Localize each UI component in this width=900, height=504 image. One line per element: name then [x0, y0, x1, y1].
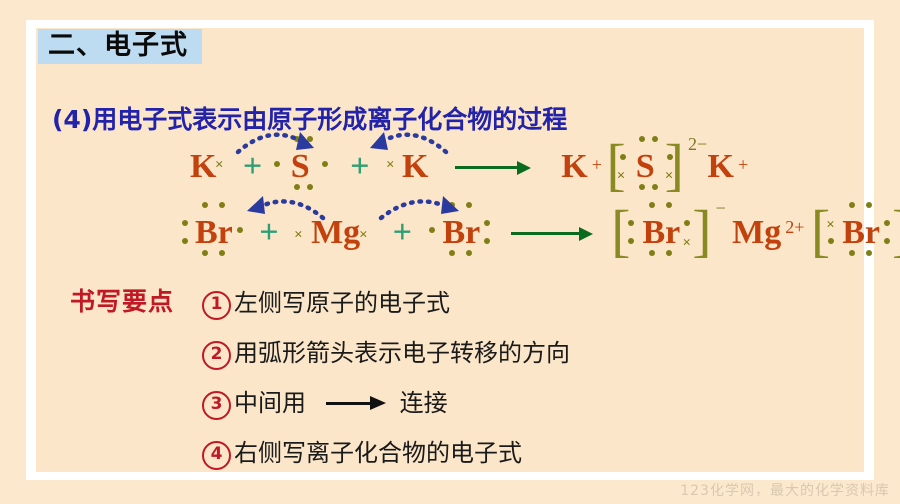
atom-symbol-br: Br — [642, 214, 680, 251]
bracketed-br: Br × — [642, 214, 680, 252]
ion-charge: 2+ — [785, 217, 804, 237]
product-bromide-left: [ Br × ] − — [611, 214, 726, 252]
electron-cross: × — [359, 232, 368, 238]
key-point-text: 左侧写原子的电子式 — [234, 289, 450, 317]
electron-cross: × — [617, 173, 626, 179]
arrow-head — [370, 396, 386, 410]
key-point-text-after: 连接 — [400, 389, 448, 417]
product-mg-ion: Mg 2+ — [732, 214, 804, 252]
product-k-right: K + — [708, 148, 749, 186]
electron-dot — [628, 220, 634, 226]
atom-symbol-br: Br — [842, 214, 880, 251]
reaction-arrow — [511, 227, 595, 241]
arrow-shaft — [511, 232, 581, 235]
ion-charge: + — [738, 155, 748, 175]
reaction-arrow-wrap — [511, 223, 603, 243]
electron-transfer-arrow-right — [366, 126, 452, 156]
atom-symbol-k: K — [561, 148, 587, 185]
key-point-text: 右侧写离子化合物的电子式 — [234, 439, 522, 467]
equation-ks2: K × + S + × K K — [190, 148, 748, 186]
arrow-head — [517, 161, 531, 175]
atom-symbol-mg: Mg — [732, 214, 781, 251]
ion-charge: + — [592, 155, 602, 175]
atom-symbol-br: Br — [195, 214, 233, 251]
electron-dot — [429, 227, 435, 233]
key-point-text: 用弧形箭头表示电子转移的方向 — [234, 339, 570, 367]
electron-transfer-arrow-left — [243, 194, 333, 222]
electron-dot — [628, 238, 634, 244]
page-title: 二、电子式 — [48, 30, 188, 61]
key-point-1: 1左侧写原子的电子式 — [202, 283, 450, 320]
key-point-number: 2 — [202, 341, 231, 370]
arrow-head — [579, 227, 593, 241]
key-point-3: 3中间用 连接 — [202, 383, 448, 420]
electron-dot — [237, 227, 243, 233]
connector-arrow-icon — [326, 394, 388, 414]
slide-root: 二、电子式 (4)用电子式表示由原子形成离子化合物的过程 K × + S + ×… — [0, 0, 900, 504]
key-points-label: 书写要点 — [70, 282, 174, 318]
key-point-number: 3 — [202, 391, 231, 420]
electron-dot — [620, 154, 626, 160]
electron-dot — [294, 184, 300, 190]
page-title-highlight: 二、电子式 — [38, 29, 202, 64]
electron-transfer-arrow-right — [373, 194, 463, 222]
product-sulfide-ion: [ S × × ] 2− — [606, 148, 707, 186]
electron-cross: × — [215, 162, 224, 168]
reaction-arrow — [455, 161, 531, 175]
ion-charge: − — [716, 198, 726, 218]
electron-dot — [219, 250, 225, 256]
arrow-shaft — [326, 402, 374, 405]
electron-dot — [884, 220, 890, 226]
electron-cross: × — [386, 162, 395, 168]
bracketed-br: Br × — [842, 214, 880, 252]
product-k-left: K + — [561, 148, 602, 186]
atom-symbol-s: S — [636, 148, 655, 185]
reactant-k-left: K × — [190, 148, 216, 186]
electron-dot — [219, 202, 225, 208]
electron-dot — [652, 136, 658, 142]
electron-dot — [202, 250, 208, 256]
electron-dot — [307, 184, 313, 190]
atom-symbol-k: K — [708, 148, 734, 185]
electron-dot — [322, 161, 328, 167]
electron-dot — [828, 238, 834, 244]
product-bromide-right: [ Br × ] − — [811, 214, 900, 252]
electron-cross: × — [826, 222, 835, 228]
watermark: 123化学网，最大的化学资料库 — [680, 480, 890, 500]
electron-dot — [884, 238, 890, 244]
key-point-number: 1 — [202, 291, 231, 320]
atom-symbol-k: K — [190, 148, 216, 185]
reaction-arrow-wrap — [455, 157, 539, 177]
key-point-2: 2用弧形箭头表示电子转移的方向 — [202, 333, 570, 370]
electron-cross: × — [294, 232, 303, 238]
electron-dot — [182, 238, 188, 244]
electron-dot — [639, 136, 645, 142]
electron-dot — [484, 238, 490, 244]
key-point-text-before: 中间用 — [234, 389, 306, 417]
electron-transfer-arrow-left — [232, 126, 318, 156]
electron-dot — [274, 161, 280, 167]
equation-mgbr2: Br + × Mg × + Br — [185, 214, 900, 252]
key-point-number: 4 — [202, 441, 231, 470]
ion-charge: 2− — [688, 134, 707, 154]
electron-dot — [684, 220, 690, 226]
electron-dot — [484, 220, 490, 226]
bracketed-s: S × × — [636, 148, 655, 186]
electron-dot — [182, 220, 188, 226]
arrow-shaft — [455, 166, 519, 169]
electron-cross: × — [682, 240, 691, 246]
electron-dot — [652, 184, 658, 190]
reactant-br-left: Br — [195, 214, 233, 252]
electron-dot — [202, 202, 208, 208]
electron-dot — [639, 184, 645, 190]
key-point-4: 4右侧写离子化合物的电子式 — [202, 433, 522, 470]
